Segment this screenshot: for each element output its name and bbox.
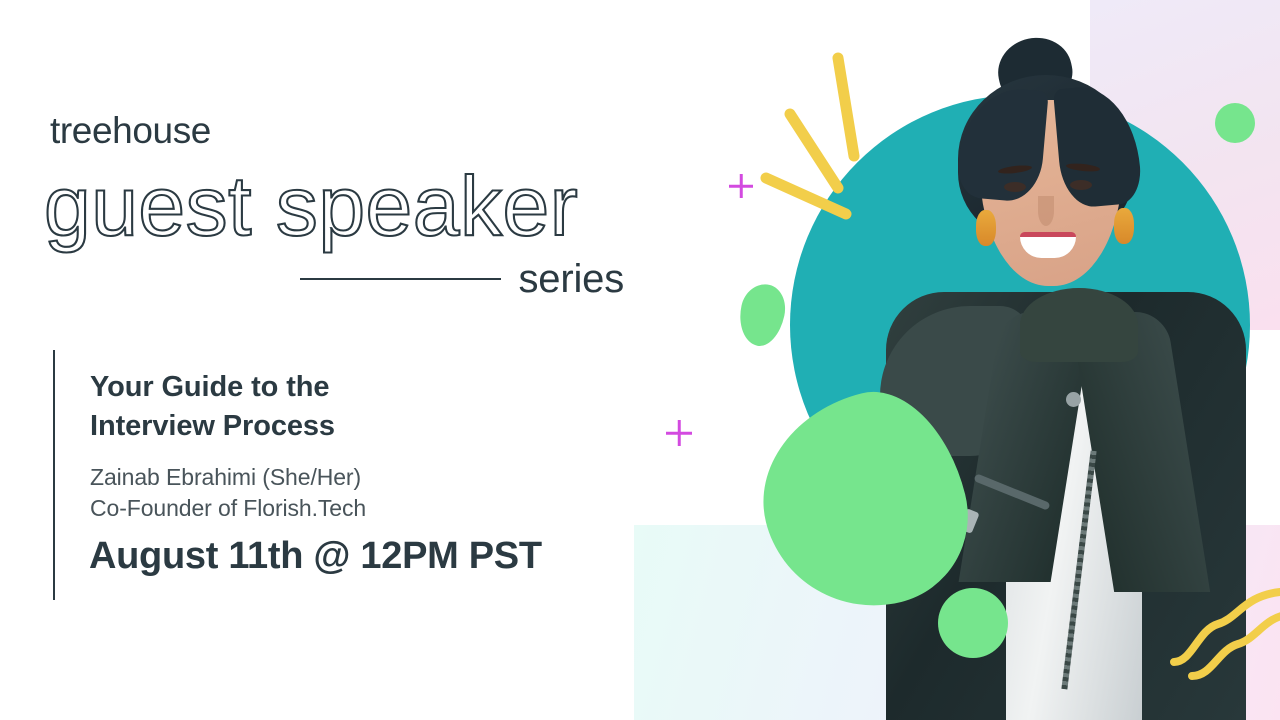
event-datetime: August 11th @ 12PM PST bbox=[89, 535, 542, 578]
headline-guest-speaker: guest speaker bbox=[44, 158, 578, 255]
event-title-line-2: Interview Process bbox=[90, 407, 335, 446]
green-blob-circle-bottom bbox=[938, 588, 1008, 658]
series-divider-rule bbox=[300, 278, 501, 280]
speaker-photo-clip bbox=[0, 0, 1280, 720]
series-row: series bbox=[300, 256, 624, 302]
yellow-squiggles-decoration bbox=[1160, 570, 1280, 680]
event-title-line-1: Your Guide to the bbox=[90, 368, 335, 407]
speaker-role: Co-Founder of Florish.Tech bbox=[90, 493, 366, 524]
treehouse-wordmark: treehouse bbox=[50, 110, 211, 152]
nose bbox=[1038, 196, 1054, 226]
jacket-collar bbox=[1020, 288, 1138, 362]
promo-graphic: treehouse guest speaker series Your Guid… bbox=[0, 0, 1280, 720]
speaker-name: Zainab Ebrahimi (She/Her) bbox=[90, 462, 361, 493]
earring-left bbox=[976, 210, 996, 246]
earring-right bbox=[1114, 208, 1134, 244]
series-label: series bbox=[519, 257, 625, 302]
eye-right bbox=[1070, 180, 1092, 190]
event-title: Your Guide to the Interview Process bbox=[90, 368, 335, 446]
eye-left bbox=[1004, 182, 1026, 192]
jacket-stud bbox=[1066, 392, 1081, 407]
green-blob-circle-top bbox=[1215, 103, 1255, 143]
vertical-accent-bar bbox=[53, 350, 55, 600]
